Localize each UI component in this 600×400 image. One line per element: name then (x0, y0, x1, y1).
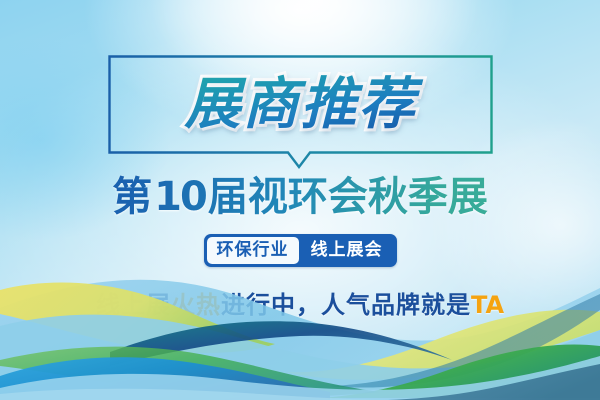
sub-title: 第10届视环会秋季展 (0, 172, 600, 222)
sub-title-suffix: 届视环会秋季展 (208, 175, 488, 219)
title-frame: 展商推荐 展商推荐 (108, 55, 493, 168)
edition-number: 10 (152, 174, 208, 220)
wave-decoration (0, 260, 600, 400)
sub-title-prefix: 第 (112, 175, 152, 219)
exhibitor-recommendation-banner: 展商推荐 展商推荐 第10届视环会秋季展 环保行业 线上展会 线上展火热进行中，… (0, 0, 600, 400)
main-title: 展商推荐 (108, 61, 493, 147)
